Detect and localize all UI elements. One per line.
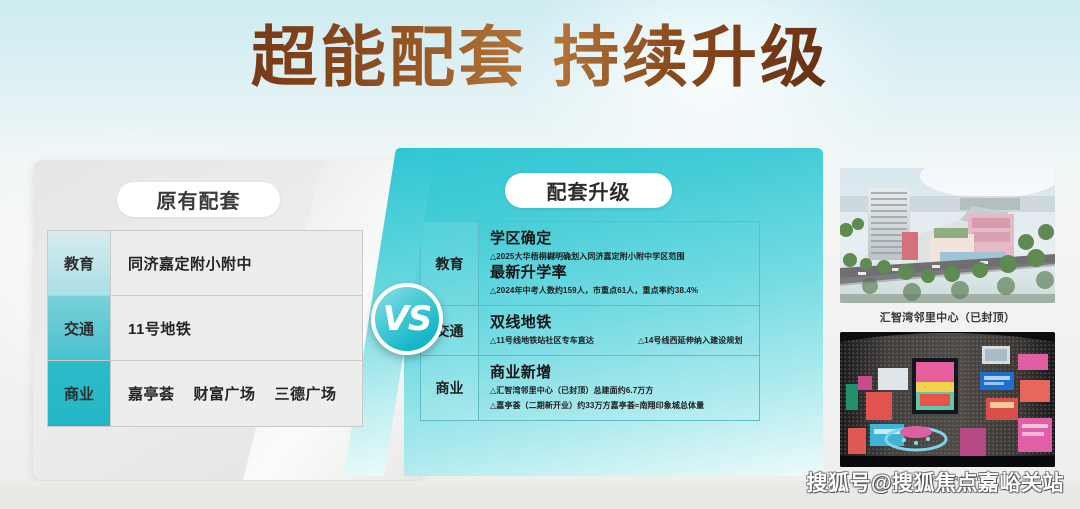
detail-row: △11号线地铁站社区专车直达 △14号线西延伸纳入建设规划 — [490, 332, 750, 347]
photo-card-top: 汇智湾邻里中心（已封顶） — [840, 168, 1055, 325]
block-detail: △2024年中考人数约159人，市重点61人，重点率约38.4% — [490, 284, 750, 297]
vs-badge-label: VS — [383, 302, 432, 336]
upgrade-facilities-panel: 配套升级 教育 学区确定 △2025大华梧桐樾明确划入同济嘉定附小附中学区范围 … — [404, 148, 823, 476]
aerial-rendering-illustration — [840, 168, 1055, 303]
row-value-commerce: 嘉亭荟 财富广场 三德广场 — [111, 361, 362, 426]
night-led-facade-illustration — [840, 332, 1055, 467]
block-heading: 双线地铁 — [490, 313, 750, 332]
row-content-commerce: 商业新增 △汇智湾邻里中心（已封顶）总建面约6.7万方 △嘉亭荟（二期新开业）约… — [479, 356, 759, 420]
table-row: 商业 商业新增 △汇智湾邻里中心（已封顶）总建面约6.7万方 △嘉亭荟（二期新开… — [421, 356, 759, 420]
row-content-education: 学区确定 △2025大华梧桐樾明确划入同济嘉定附小附中学区范围 最新升学率 △2… — [479, 222, 759, 305]
block-heading: 商业新增 — [490, 363, 750, 382]
page-title: 超能配套 持续升级 — [0, 14, 1080, 100]
row-value-education: 同济嘉定附小附中 — [111, 231, 362, 295]
table-row: 交通 双线地铁 △11号线地铁站社区专车直达 △14号线西延伸纳入建设规划 — [421, 306, 759, 356]
old-facilities-table: 教育 同济嘉定附小附中 交通 11号地铁 商业 嘉亭荟 财富广场 三德广场 — [47, 230, 363, 427]
block-heading: 学区确定 — [490, 229, 750, 248]
upgrade-facilities-table: 教育 学区确定 △2025大华梧桐樾明确划入同济嘉定附小附中学区范围 最新升学率… — [420, 221, 760, 421]
photo-card-bottom: 嘉亭荟（二期新开业） — [840, 332, 1055, 489]
commerce-item: 嘉亭荟 — [128, 383, 175, 404]
table-row: 教育 学区确定 △2025大华梧桐樾明确划入同济嘉定附小附中学区范围 最新升学率… — [421, 222, 759, 306]
poster-canvas: 超能配套 持续升级 原有配套 教育 同济嘉定附小附中 交通 11号地铁 商业 嘉… — [0, 0, 1080, 509]
row-label-commerce: 商业 — [48, 361, 111, 426]
commerce-item: 财富广场 — [194, 383, 256, 404]
block-detail: △11号线地铁站社区专车直达 — [490, 334, 594, 347]
old-facilities-pill: 原有配套 — [117, 182, 280, 217]
row-content-transport: 双线地铁 △11号线地铁站社区专车直达 △14号线西延伸纳入建设规划 — [479, 306, 759, 355]
table-row: 商业 嘉亭荟 财富广场 三德广场 — [48, 361, 362, 426]
vs-badge: VS — [371, 283, 443, 355]
block-detail: △汇智湾邻里中心（已封顶）总建面约6.7万方 — [490, 384, 750, 397]
watermark: 搜狐号@搜狐焦点嘉峪关站 — [807, 467, 1064, 497]
commerce-item: 三德广场 — [275, 383, 337, 404]
block-detail: △嘉亭荟（二期新开业）约33万方嘉亭荟≈南翔印象城总体量 — [490, 399, 750, 412]
row-value-transport: 11号地铁 — [111, 296, 362, 360]
table-row: 交通 11号地铁 — [48, 296, 362, 361]
upgrade-facilities-pill: 配套升级 — [505, 173, 672, 208]
table-row: 教育 同济嘉定附小附中 — [48, 231, 362, 296]
photo-led-facade — [840, 332, 1055, 467]
row-label-transport: 交通 — [48, 296, 111, 360]
block-heading: 最新升学率 — [490, 263, 750, 282]
block-detail: △2025大华梧桐樾明确划入同济嘉定附小附中学区范围 — [490, 250, 750, 263]
photo-caption-top: 汇智湾邻里中心（已封顶） — [840, 309, 1055, 325]
row-label-education: 教育 — [48, 231, 111, 295]
photo-aerial-complex — [840, 168, 1055, 303]
block-detail: △14号线西延伸纳入建设规划 — [638, 334, 742, 347]
row-label-commerce: 商业 — [421, 356, 479, 420]
